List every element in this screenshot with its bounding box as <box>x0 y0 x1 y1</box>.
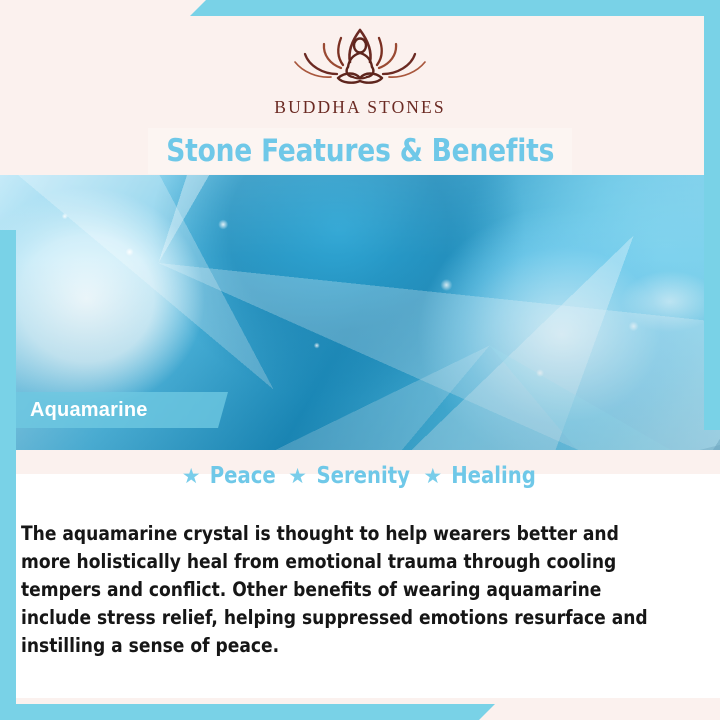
keyword-label: Serenity <box>316 463 409 489</box>
star-icon: ★ <box>423 466 442 487</box>
star-icon: ★ <box>288 466 307 487</box>
lotus-meditation-icon <box>275 22 445 90</box>
star-icon: ★ <box>182 466 201 487</box>
stone-name-band: Aquamarine <box>0 392 228 428</box>
keyword-item-peace: ★ Peace <box>182 463 277 489</box>
keyword-label: Peace <box>209 463 275 489</box>
stone-info-card: BUDDHA STONES Stone Features & Benefits … <box>0 0 720 720</box>
stone-description: The aquamarine crystal is thought to hel… <box>21 520 666 660</box>
keyword-list: ★ Peace ★ Serenity ★ Healing <box>0 463 720 489</box>
brand-logo: BUDDHA STONES <box>0 22 720 118</box>
aquamarine-crystal-photo: Aquamarine <box>0 175 720 450</box>
frame-accent-top <box>190 0 720 16</box>
keyword-label: Healing <box>451 463 536 489</box>
keyword-item-serenity: ★ Serenity <box>288 463 412 489</box>
page-title-bar: Stone Features & Benefits <box>148 128 572 174</box>
page-title: Stone Features & Benefits <box>166 133 554 169</box>
brand-name: BUDDHA STONES <box>0 97 720 118</box>
frame-accent-bottom <box>0 704 495 720</box>
stone-name: Aquamarine <box>0 399 148 422</box>
keyword-item-healing: ★ Healing <box>423 463 538 489</box>
